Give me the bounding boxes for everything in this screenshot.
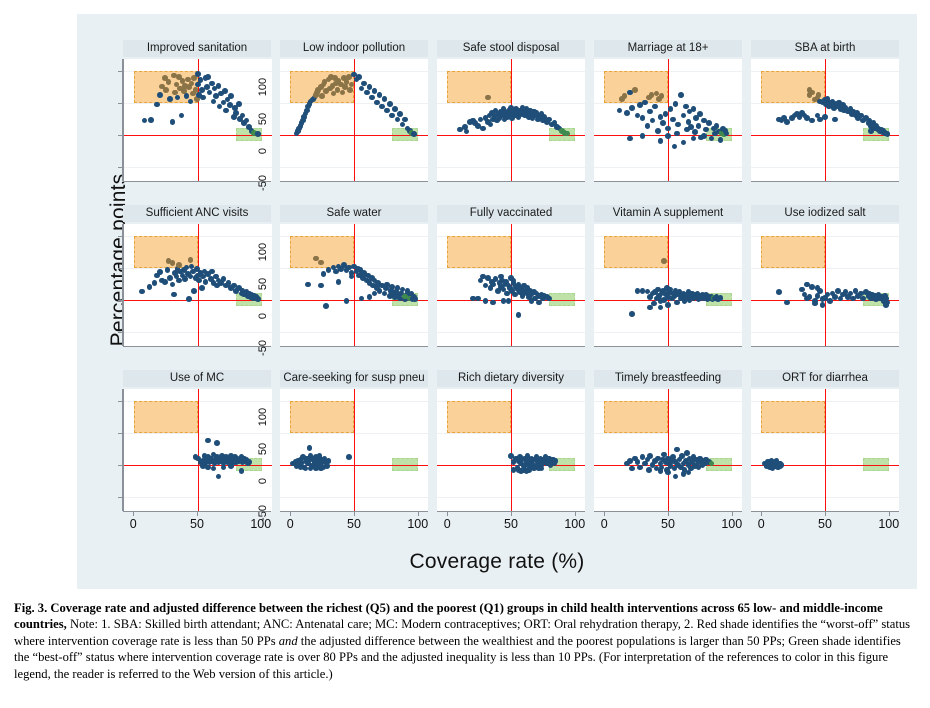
data-point [650, 118, 656, 124]
plot-area [594, 224, 742, 346]
panel-title: Low indoor pollution [280, 40, 428, 57]
reference-line-horizontal [437, 465, 585, 466]
plot-area [437, 389, 585, 511]
panel-care-seeking-for-susp-pneu: Care-seeking for susp pneu050100 [280, 370, 428, 535]
data-point [346, 454, 352, 460]
data-point [640, 133, 646, 139]
plot-area [123, 389, 272, 511]
data-point [167, 275, 173, 281]
data-point [199, 285, 205, 291]
panel-ort-for-diarrhea: ORT for diarrhea050100 [751, 370, 899, 535]
y-tick-label: 0 [257, 299, 269, 333]
data-point [475, 296, 481, 302]
y-tick-label: -50 [257, 331, 269, 365]
data-point [627, 136, 633, 142]
panel-title: Use of MC [123, 370, 271, 387]
plot-area [280, 224, 428, 346]
reference-line-vertical [825, 389, 826, 511]
data-point [222, 88, 228, 94]
x-tick-label: 50 [334, 517, 374, 531]
x-tick-label: 0 [741, 517, 781, 531]
data-point [665, 126, 671, 132]
x-tick-label: 50 [491, 517, 531, 531]
reference-line-vertical [668, 59, 669, 181]
data-point [488, 122, 494, 128]
x-tick-label: 0 [427, 517, 467, 531]
data-point [645, 123, 651, 129]
data-point [629, 466, 635, 472]
data-point [205, 465, 211, 471]
x-axis-line [280, 181, 428, 182]
data-point [658, 305, 664, 311]
data-point [318, 283, 324, 289]
data-point [672, 144, 678, 150]
y-tick [118, 135, 123, 136]
x-tick [732, 511, 733, 516]
data-point [498, 274, 504, 280]
x-tick [575, 511, 576, 516]
data-point [675, 122, 681, 128]
data-point [170, 282, 176, 288]
data-point [214, 440, 220, 446]
reference-line-horizontal [280, 135, 428, 136]
panel-marriage-at-18: Marriage at 18+ [594, 40, 742, 205]
worst-off-shade [447, 401, 511, 433]
panel-safe-stool-disposal: Safe stool disposal [437, 40, 585, 205]
data-point [629, 311, 635, 317]
data-point [236, 101, 242, 107]
x-axis-line [594, 181, 742, 182]
data-point [483, 298, 489, 304]
reference-line-horizontal [124, 135, 272, 136]
x-axis-line [751, 181, 899, 182]
panel-title: Rich dietary diversity [437, 370, 585, 387]
data-point [820, 302, 826, 308]
data-point [305, 282, 311, 288]
caption-italic-and: and [279, 634, 298, 648]
data-point [516, 312, 522, 318]
data-point [816, 92, 822, 98]
plot-area [280, 389, 428, 511]
worst-off-shade [761, 401, 825, 433]
data-point [326, 458, 332, 464]
plot-area [280, 59, 428, 181]
panel-improved-sanitation: Improved sanitation100500-50 [123, 40, 271, 205]
data-point [205, 438, 211, 444]
panel-title: Vitamin A supplement [594, 205, 742, 222]
data-point [228, 93, 234, 99]
data-point [673, 101, 679, 107]
data-point [176, 262, 182, 268]
data-point [139, 289, 145, 295]
panel-rich-dietary-diversity: Rich dietary diversity050100 [437, 370, 585, 535]
data-point [171, 292, 177, 298]
data-point [142, 118, 148, 124]
data-point [660, 120, 666, 126]
y-tick [118, 332, 123, 333]
data-point [553, 458, 559, 464]
data-point [157, 269, 163, 275]
data-point [223, 108, 229, 114]
data-point [246, 459, 252, 465]
data-point [397, 111, 403, 117]
x-tick [668, 511, 669, 516]
plot-area [437, 59, 585, 181]
data-point [678, 92, 684, 98]
data-point [402, 117, 408, 123]
data-point [536, 300, 542, 306]
y-tick [118, 300, 123, 301]
plot-area [751, 59, 899, 181]
data-point [372, 291, 378, 297]
data-point [382, 96, 388, 102]
data-point [647, 305, 653, 311]
x-axis-line [280, 346, 428, 347]
x-axis-line [437, 181, 585, 182]
panel-vitamin-a-supplement: Vitamin A supplement [594, 205, 742, 370]
panel-title: Care-seeking for susp pneu [280, 370, 428, 387]
worst-off-shade [134, 401, 198, 433]
y-tick [118, 103, 123, 104]
data-point [789, 115, 795, 121]
panel-timely-breastfeeding: Timely breastfeeding050100 [594, 370, 742, 535]
data-point [170, 119, 176, 125]
y-tick-label: 50 [257, 102, 269, 136]
data-point [658, 468, 664, 474]
data-point [629, 105, 635, 111]
x-axis-line [594, 346, 742, 347]
panel-row: Improved sanitation100500-50Low indoor p… [123, 40, 908, 205]
panel-title: Sufficient ANC visits [123, 205, 271, 222]
x-tick [354, 511, 355, 516]
reference-line-horizontal [751, 135, 899, 136]
data-point [642, 100, 648, 106]
data-point [765, 462, 771, 468]
panel-title: Timely breastfeeding [594, 370, 742, 387]
data-point [617, 108, 623, 114]
y-tick-label: 0 [257, 134, 269, 168]
reference-line-vertical [825, 224, 826, 346]
x-tick-label: 0 [113, 517, 153, 531]
data-point [665, 133, 671, 139]
x-tick [418, 511, 419, 516]
panel-sba-at-birth: SBA at birth [751, 40, 899, 205]
data-point [176, 278, 182, 284]
reference-line-vertical [354, 224, 355, 346]
data-point [364, 90, 370, 96]
plot-area [751, 224, 899, 346]
y-tick-label: -50 [257, 166, 269, 200]
data-point [347, 87, 353, 93]
data-point [506, 298, 512, 304]
panel-row: Use of MC100500-50050100Care-seeking for… [123, 370, 908, 535]
data-point [195, 71, 201, 77]
data-point [321, 271, 327, 277]
reference-line-vertical [668, 389, 669, 511]
y-axis-line [122, 224, 123, 346]
panel-fully-vaccinated: Fully vaccinated [437, 205, 585, 370]
x-tick-label: 50 [648, 517, 688, 531]
plot-area [751, 389, 899, 511]
panel-low-indoor-pollution: Low indoor pollution [280, 40, 428, 205]
reference-line-vertical [354, 389, 355, 511]
data-point [228, 463, 234, 469]
data-point [665, 302, 671, 308]
worst-off-shade [447, 236, 511, 268]
x-tick-label: 0 [270, 517, 310, 531]
x-axis-line [437, 346, 585, 347]
data-point [464, 129, 470, 135]
data-point [389, 113, 395, 119]
x-tick-label: 50 [177, 517, 217, 531]
panel-use-of-mc: Use of MC100500-50050100 [123, 370, 271, 535]
data-point [673, 474, 679, 480]
data-point [691, 106, 697, 112]
panel-title: Improved sanitation [123, 40, 271, 57]
data-point [396, 293, 402, 299]
x-tick-label: 50 [805, 517, 845, 531]
data-point [318, 466, 324, 472]
worst-off-shade [447, 71, 511, 103]
plot-area [123, 59, 272, 181]
data-point [319, 93, 325, 99]
data-point [632, 87, 638, 93]
data-point [179, 113, 185, 119]
data-point [216, 474, 222, 480]
x-axis-line [751, 346, 899, 347]
y-tick-label: 50 [257, 432, 269, 466]
data-point [822, 114, 828, 120]
data-point [564, 131, 570, 137]
data-point [661, 258, 667, 264]
data-point [665, 470, 671, 476]
worst-off-shade [761, 236, 825, 268]
data-point [163, 87, 169, 93]
x-tick-label: 0 [584, 517, 624, 531]
panel-title: Use iodized salt [751, 205, 899, 222]
x-tick [604, 511, 605, 516]
reference-line-vertical [511, 389, 512, 511]
data-point [200, 463, 206, 469]
data-point [191, 288, 197, 294]
plot-area [594, 389, 742, 511]
data-point [529, 298, 535, 304]
x-axis-line [123, 346, 271, 347]
x-tick [290, 511, 291, 516]
data-point [692, 129, 698, 135]
figure-container: Percentage points Coverage rate (%) Impr… [77, 14, 917, 589]
panel-title: Marriage at 18+ [594, 40, 742, 57]
data-point [686, 470, 692, 476]
y-tick [118, 465, 123, 466]
y-tick [118, 71, 123, 72]
data-point [207, 90, 213, 96]
data-point [216, 83, 222, 89]
data-point [205, 74, 211, 80]
data-point [387, 101, 393, 107]
data-point [324, 463, 330, 469]
x-tick [133, 511, 134, 516]
plot-area [594, 59, 742, 181]
data-point [154, 102, 160, 108]
panel-safe-water: Safe water [280, 205, 428, 370]
data-point [670, 117, 676, 123]
data-point [367, 294, 373, 300]
panel-sufficient-anc-visits: Sufficient ANC visits100500-50 [123, 205, 271, 370]
worst-off-shade [290, 401, 354, 433]
y-tick [118, 268, 123, 269]
data-point [336, 279, 342, 285]
data-point [307, 445, 313, 451]
data-point [221, 465, 227, 471]
panel-title: ORT for diarrhea [751, 370, 899, 387]
data-point [674, 447, 680, 453]
data-point [490, 282, 496, 288]
y-tick [118, 497, 123, 498]
data-point [303, 466, 309, 472]
data-point [674, 131, 680, 137]
data-point [701, 133, 707, 139]
data-point [655, 128, 661, 134]
y-tick [118, 433, 123, 434]
data-point [524, 468, 530, 474]
panel-use-iodized-salt: Use iodized salt [751, 205, 899, 370]
data-point [868, 128, 874, 134]
data-point [411, 131, 417, 137]
x-tick [261, 511, 262, 516]
x-tick [511, 511, 512, 516]
data-point [804, 282, 810, 288]
data-point [652, 104, 658, 110]
data-point [157, 92, 163, 98]
data-point [647, 109, 653, 115]
y-tick [118, 167, 123, 168]
reference-line-vertical [198, 389, 199, 511]
y-tick [118, 236, 123, 237]
x-axis-line [123, 181, 271, 182]
data-point [485, 95, 491, 101]
data-point [318, 260, 324, 266]
data-point [691, 136, 697, 142]
worst-off-shade [604, 236, 668, 268]
data-point [200, 95, 206, 101]
data-point [539, 466, 545, 472]
y-tick-label: 100 [257, 70, 269, 104]
reference-line-vertical [825, 59, 826, 181]
data-point [658, 138, 664, 144]
data-point [681, 113, 687, 119]
x-axis-title: Coverage rate (%) [77, 550, 917, 574]
data-point [211, 466, 217, 472]
x-tick [761, 511, 762, 516]
x-tick [197, 511, 198, 516]
panel-title: SBA at birth [751, 40, 899, 57]
data-point [239, 468, 245, 474]
data-point [480, 126, 486, 132]
data-point [784, 300, 790, 306]
panel-row: Sufficient ANC visits100500-50Safe water… [123, 205, 908, 370]
x-tick [447, 511, 448, 516]
data-point [624, 110, 630, 116]
data-point [395, 117, 401, 123]
data-point [152, 280, 158, 286]
data-point [344, 298, 350, 304]
data-point [167, 96, 173, 102]
data-point [186, 296, 192, 302]
x-tick [889, 511, 890, 516]
data-point [718, 137, 724, 143]
worst-off-shade [604, 401, 668, 433]
figure-caption: Fig. 3. Coverage rate and adjusted diffe… [14, 600, 918, 682]
data-point [188, 257, 194, 263]
data-point [148, 117, 154, 123]
data-point [681, 140, 687, 146]
data-point [718, 295, 724, 301]
x-tick [825, 511, 826, 516]
y-tick-label: 0 [257, 464, 269, 498]
data-point [812, 301, 818, 307]
data-point [233, 110, 239, 116]
plot-area [123, 224, 272, 346]
data-point [356, 74, 362, 80]
data-point [697, 111, 703, 117]
plot-area [437, 224, 585, 346]
data-point [776, 463, 782, 469]
data-point [776, 289, 782, 295]
x-tick-label: 100 [869, 517, 909, 531]
data-point [815, 285, 821, 291]
data-point [832, 117, 838, 123]
data-point [706, 120, 712, 126]
data-point [668, 106, 674, 112]
data-point [809, 118, 815, 124]
data-point [147, 284, 153, 290]
data-point [165, 267, 171, 273]
data-point [646, 467, 652, 473]
data-point [490, 300, 496, 306]
panel-title: Safe water [280, 205, 428, 222]
y-tick-label: 50 [257, 267, 269, 301]
data-point [696, 123, 702, 129]
data-point [369, 95, 375, 101]
y-axis-line [122, 59, 123, 181]
y-tick-label: 100 [257, 400, 269, 434]
y-tick-label: 100 [257, 235, 269, 269]
data-point [640, 115, 646, 121]
y-tick [118, 401, 123, 402]
data-point [384, 108, 390, 114]
y-axis-line [122, 389, 123, 511]
panel-title: Fully vaccinated [437, 205, 585, 222]
data-point [323, 303, 329, 309]
data-point [244, 118, 250, 124]
panel-title: Safe stool disposal [437, 40, 585, 57]
data-point [817, 117, 823, 123]
data-point [714, 123, 720, 129]
